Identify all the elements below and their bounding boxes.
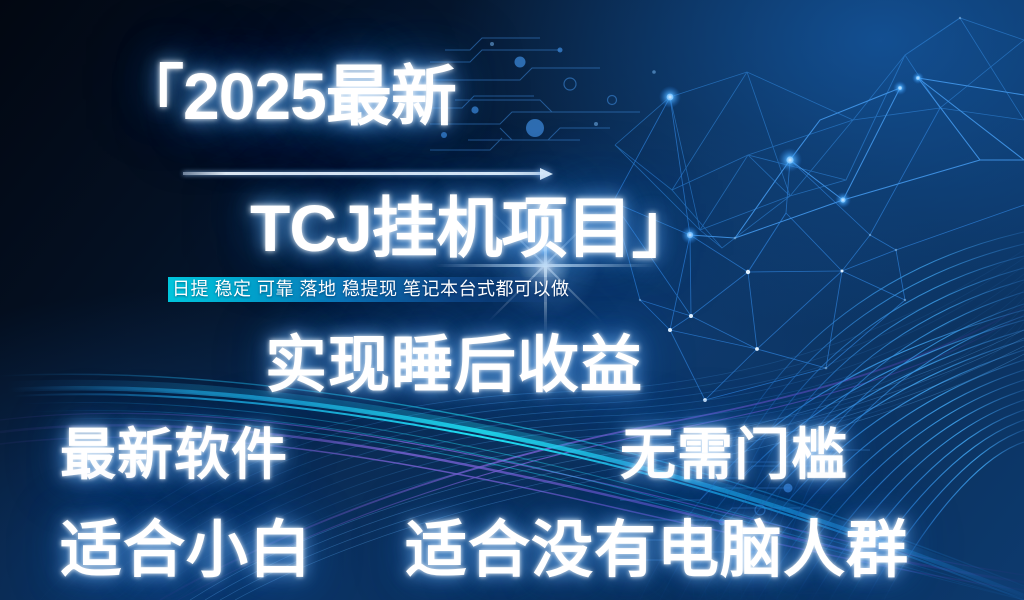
slogan-latest-software: 最新软件 — [60, 427, 288, 483]
headline-line-1: 「2025最新 — [118, 63, 456, 129]
arrow-right-icon — [183, 168, 558, 180]
banner-content: 「2025最新 TCJ挂机项目」 日提 稳定 可靠 落地 稳提现 笔记本台式都可… — [0, 0, 1024, 600]
slogan-no-barrier: 无需门槛 — [620, 427, 848, 483]
headline-line-2: TCJ挂机项目」 — [250, 195, 697, 261]
arrow-head — [540, 168, 553, 180]
slogan-no-computer: 适合没有电脑人群 — [405, 520, 909, 582]
slogan-passive-income: 实现睡后收益 — [265, 335, 643, 397]
subtitle-feature-bar: 日提 稳定 可靠 落地 稳提现 笔记本台式都可以做 — [168, 277, 576, 302]
arrow-shaft — [183, 172, 543, 175]
slogan-for-newbies: 适合小白 — [60, 520, 312, 582]
promo-banner: 「2025最新 TCJ挂机项目」 日提 稳定 可靠 落地 稳提现 笔记本台式都可… — [0, 0, 1024, 600]
